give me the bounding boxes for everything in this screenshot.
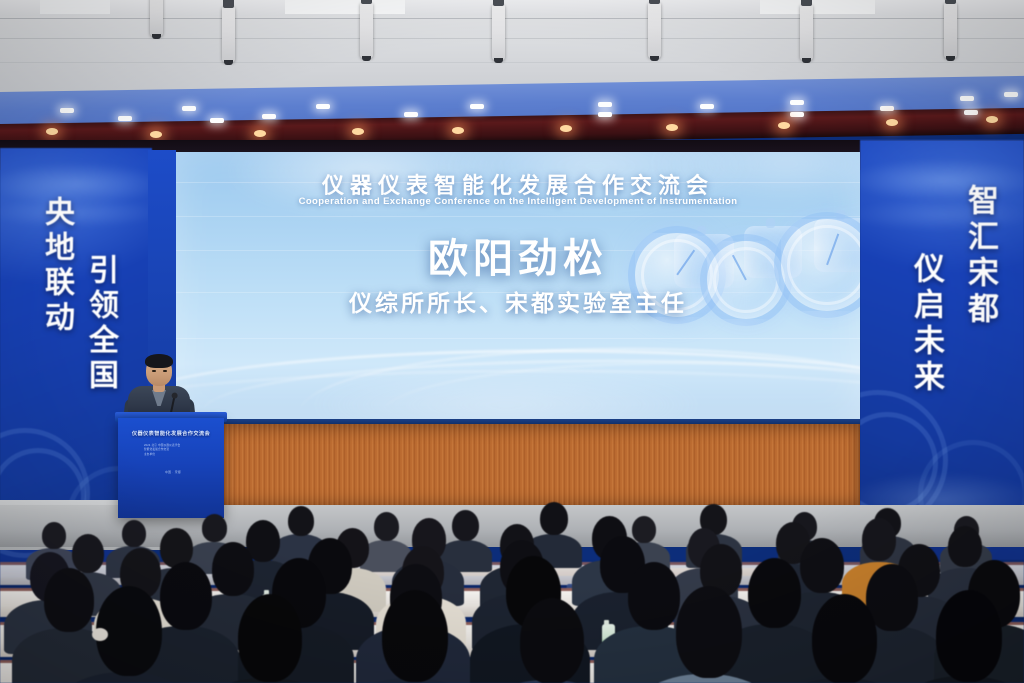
podium-subtitle: 2024 北京 中国仪器仪表学会 智能化发展合作交流 主办单位 bbox=[144, 444, 204, 457]
screen-speaker-role: 仪综所所长、宋都实验室主任 bbox=[176, 284, 860, 318]
ceiling-spotlight bbox=[492, 4, 505, 60]
banner-right: 智汇宋都 仪启未来 bbox=[860, 140, 1024, 560]
banner-right-column-1: 智汇宋都 bbox=[958, 184, 1003, 328]
ceiling-spotlight bbox=[648, 2, 661, 58]
hair-clip bbox=[92, 628, 108, 641]
banner-left-column-2: 引领全国 bbox=[78, 254, 122, 394]
audience bbox=[0, 498, 1024, 683]
banner-left-column-1: 央地联动 bbox=[34, 196, 78, 336]
podium-title: 仪器仪表智能化发展合作交流会 bbox=[124, 430, 218, 437]
conference-photo-scene: 央地联动 引领全国 智汇宋都 仪启未来 bbox=[0, 0, 1024, 683]
podium-subtitle-line: 主办单位 bbox=[144, 453, 204, 457]
ceiling-spotlight bbox=[360, 2, 373, 58]
ceiling-spotlight bbox=[222, 6, 235, 62]
ceiling-panel bbox=[760, 0, 875, 14]
ceiling-spotlight bbox=[150, 0, 163, 36]
ceiling-panel bbox=[285, 0, 405, 14]
banner-right-column-2: 仪启未来 bbox=[904, 252, 949, 396]
ceiling-panel bbox=[40, 0, 110, 14]
screen-title-en: Cooperation and Exchange Conference on t… bbox=[176, 196, 860, 207]
ceiling-spotlight bbox=[944, 2, 957, 58]
ceiling-spotlight bbox=[800, 4, 813, 60]
podium-footer: 中国 · 宋都 bbox=[148, 470, 198, 474]
led-stage-screen: 仪器仪表智能化发展合作交流会 Cooperation and Exchange … bbox=[176, 152, 860, 424]
speaker-hair bbox=[145, 354, 173, 368]
screen-speaker-name: 欧阳劲松 bbox=[176, 226, 860, 284]
